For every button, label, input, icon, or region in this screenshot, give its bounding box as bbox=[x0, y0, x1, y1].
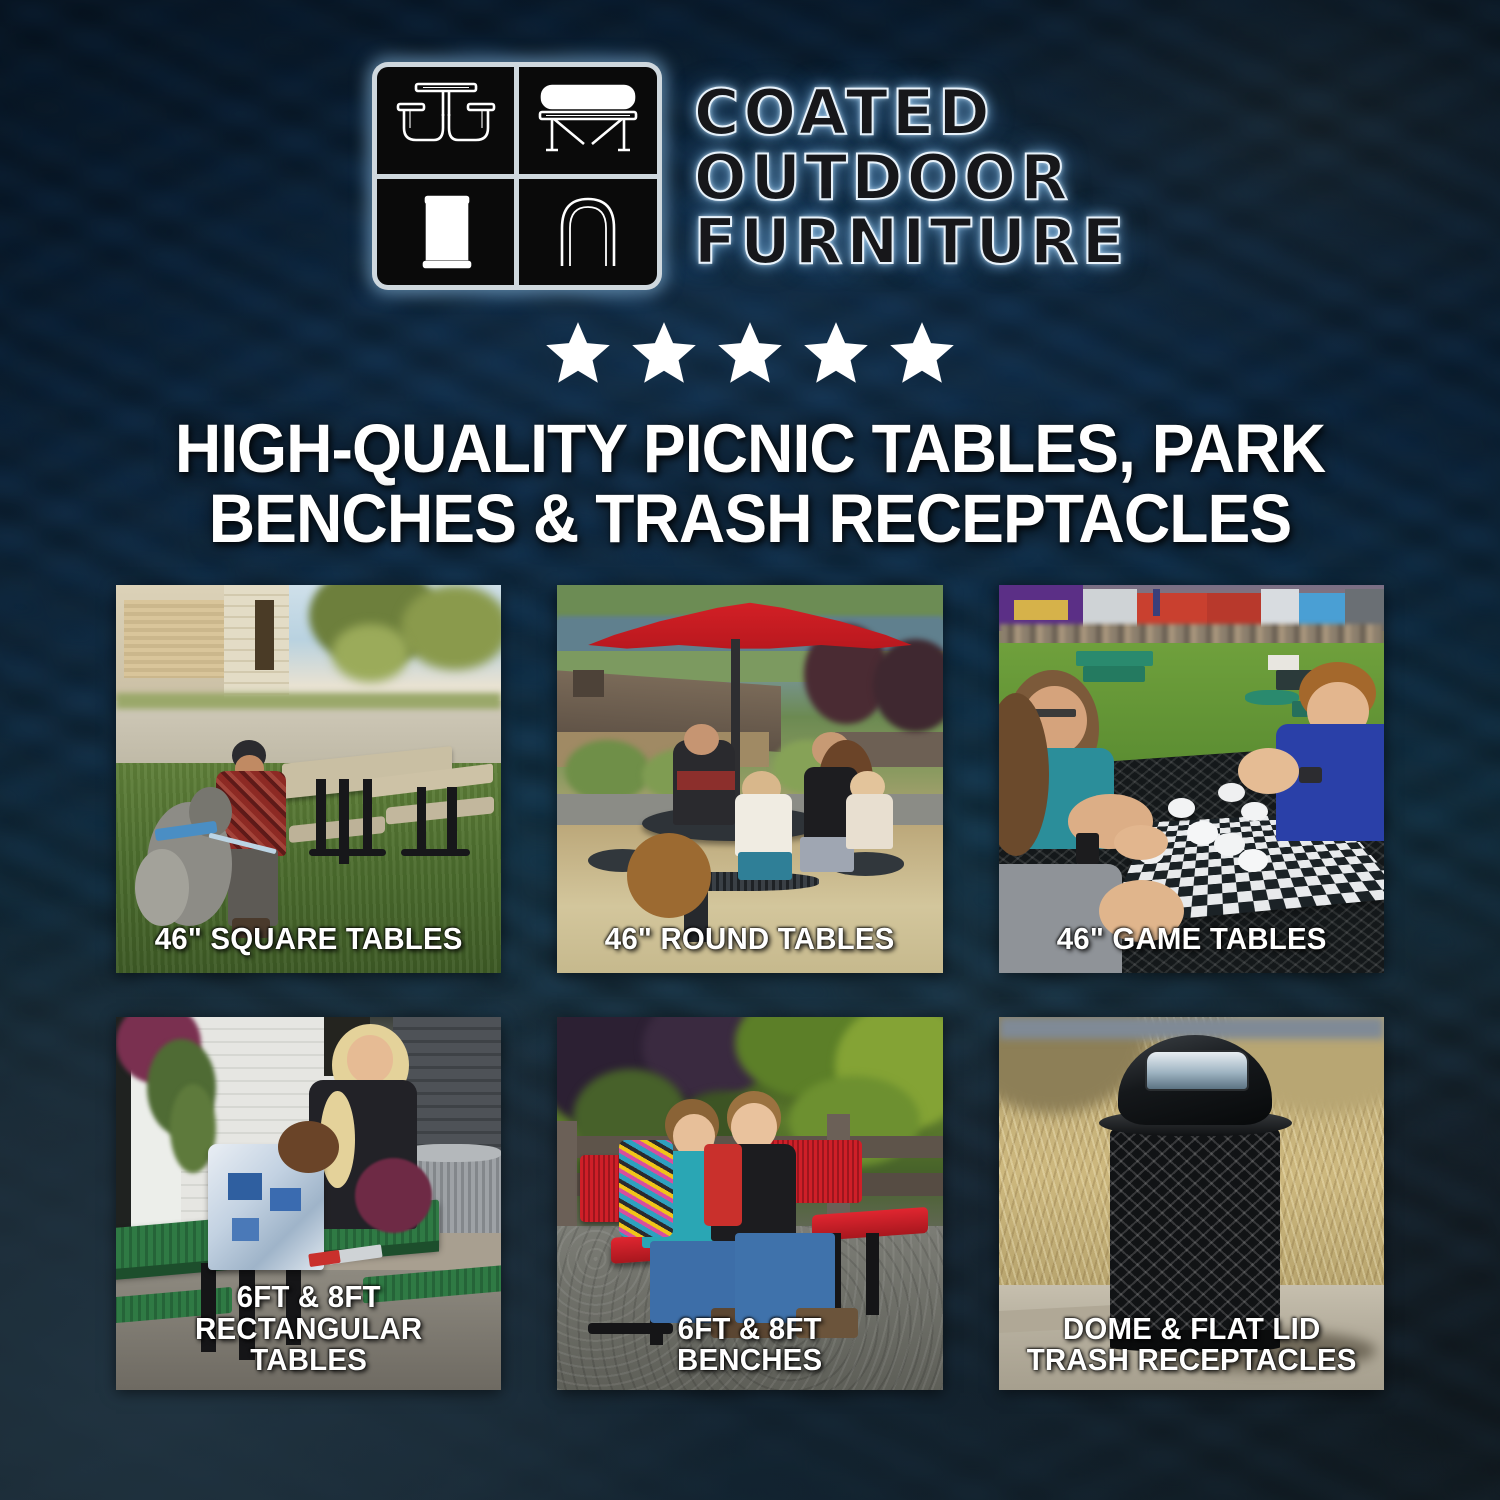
product-caption-game-tables: 46" GAME TABLES bbox=[1008, 923, 1374, 955]
brand-name-line-3: FURNITURE bbox=[694, 212, 1128, 273]
product-tile-benches[interactable]: 6FT & 8FT BENCHES bbox=[557, 1017, 942, 1390]
headline-line-1: HIGH-QUALITY PICNIC TABLES, PARK bbox=[108, 414, 1391, 484]
logo-icon-grid bbox=[372, 62, 662, 290]
caption-line: 46" GAME TABLES bbox=[1018, 923, 1365, 955]
product-caption-benches: 6FT & 8FT BENCHES bbox=[567, 1313, 933, 1376]
star-icon bbox=[542, 318, 614, 388]
star-icon bbox=[886, 318, 958, 388]
bench-icon bbox=[519, 67, 657, 174]
product-grid: 46" SQUARE TABLES bbox=[116, 585, 1384, 1390]
brand-name-line-1: COATED bbox=[694, 83, 1128, 144]
trash-receptacle-icon bbox=[377, 179, 515, 286]
product-tile-trash-receptacles[interactable]: DOME & FLAT LID TRASH RECEPTACLES bbox=[999, 1017, 1384, 1390]
product-photo-game-tables bbox=[999, 585, 1384, 973]
product-tile-round-tables[interactable]: 46" ROUND TABLES bbox=[557, 585, 942, 973]
picnic-table-icon bbox=[377, 67, 515, 174]
star-icon bbox=[714, 318, 786, 388]
caption-line: 46" ROUND TABLES bbox=[576, 923, 923, 955]
product-caption-round-tables: 46" ROUND TABLES bbox=[567, 923, 933, 955]
caption-line: TRASH RECEPTACLES bbox=[1018, 1344, 1365, 1376]
caption-line: 6FT & 8FT bbox=[135, 1281, 482, 1313]
product-caption-trash-receptacles: DOME & FLAT LID TRASH RECEPTACLES bbox=[1008, 1313, 1374, 1376]
caption-line: 6FT & 8FT bbox=[576, 1313, 923, 1345]
product-tile-rectangular-tables[interactable]: 6FT & 8FT RECTANGULAR TABLES bbox=[116, 1017, 501, 1390]
product-tile-game-tables[interactable]: 46" GAME TABLES bbox=[999, 585, 1384, 973]
product-photo-square-tables bbox=[116, 585, 501, 973]
headline: HIGH-QUALITY PICNIC TABLES, PARK BENCHES… bbox=[53, 414, 1448, 555]
star-rating bbox=[0, 318, 1500, 388]
bike-rack-arch-icon bbox=[519, 179, 657, 286]
caption-line: RECTANGULAR TABLES bbox=[135, 1313, 482, 1376]
brand-wordmark: COATED OUTDOOR FURNITURE bbox=[694, 79, 1128, 273]
brand-logo: COATED OUTDOOR FURNITURE bbox=[0, 62, 1500, 290]
product-photo-round-tables bbox=[557, 585, 942, 973]
caption-line: BENCHES bbox=[576, 1344, 923, 1376]
product-tile-square-tables[interactable]: 46" SQUARE TABLES bbox=[116, 585, 501, 973]
headline-line-2: BENCHES & TRASH RECEPTACLES bbox=[108, 484, 1391, 554]
caption-line: 46" SQUARE TABLES bbox=[135, 923, 482, 955]
caption-line: DOME & FLAT LID bbox=[1018, 1313, 1365, 1345]
promo-banner: COATED OUTDOOR FURNITURE HIGH-QUALITY PI… bbox=[0, 0, 1500, 1500]
product-caption-rectangular-tables: 6FT & 8FT RECTANGULAR TABLES bbox=[126, 1281, 492, 1376]
product-caption-square-tables: 46" SQUARE TABLES bbox=[126, 923, 492, 955]
brand-name-line-2: OUTDOOR bbox=[694, 148, 1128, 209]
star-icon bbox=[628, 318, 700, 388]
star-icon bbox=[800, 318, 872, 388]
banner-header: COATED OUTDOOR FURNITURE HIGH-QUALITY PI… bbox=[0, 0, 1500, 555]
